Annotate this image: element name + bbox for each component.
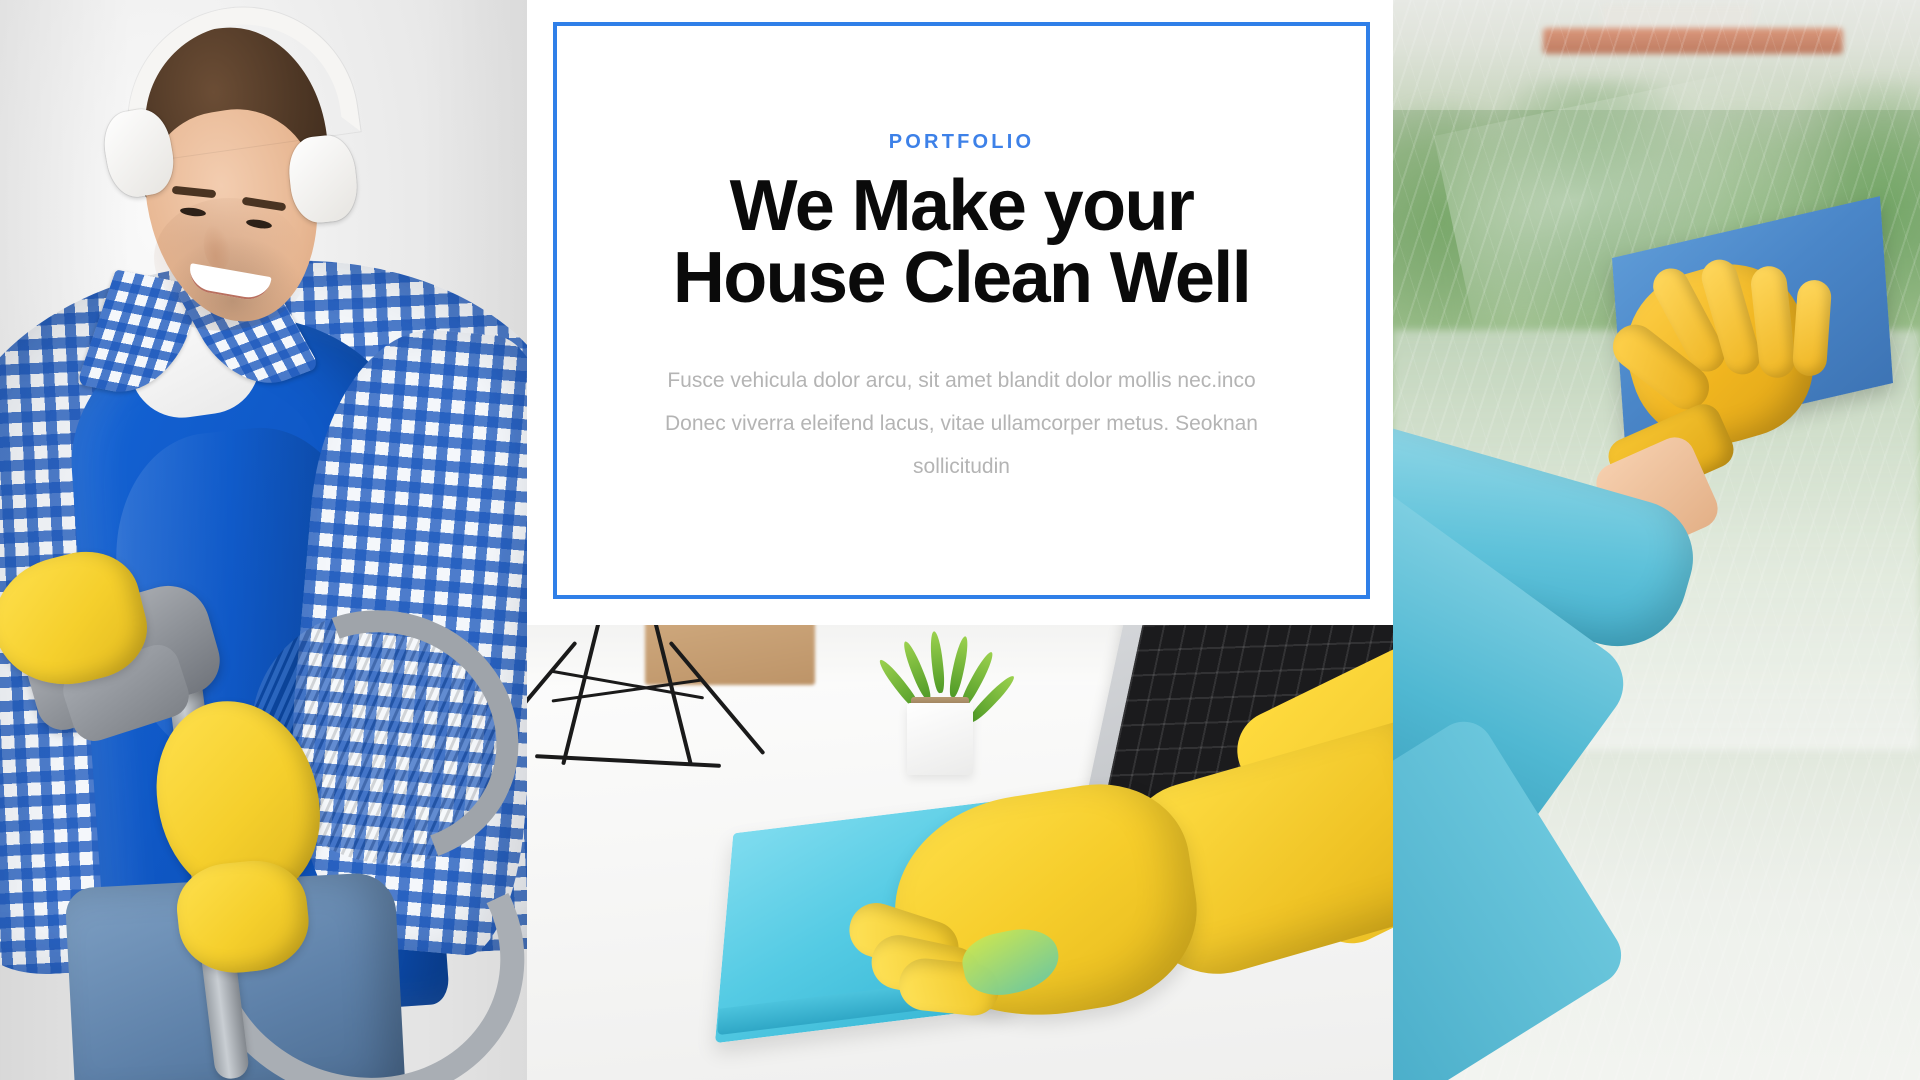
plant-pot (907, 703, 973, 775)
middle-image-panel (527, 625, 1393, 1080)
left-image-panel (0, 0, 527, 1080)
wire-sculpture (527, 625, 749, 779)
right-image-panel (1393, 0, 1920, 1080)
paragraph-line-1: Fusce vehicula dolor arcu, sit amet blan… (667, 369, 1171, 392)
headline-line-2: House Clean Well (673, 238, 1250, 318)
card-paragraph: Fusce vehicula dolor arcu, sit amet blan… (652, 359, 1272, 488)
eyebrow-label: PORTFOLIO (889, 131, 1034, 154)
page-title: We Make your House Clean Well (673, 170, 1250, 314)
page-root: PORTFOLIO We Make your House Clean Well … (0, 0, 1920, 1080)
left-head (92, 18, 362, 318)
portfolio-text-card: PORTFOLIO We Make your House Clean Well … (553, 22, 1370, 599)
headline-line-1: We Make your (730, 166, 1194, 246)
